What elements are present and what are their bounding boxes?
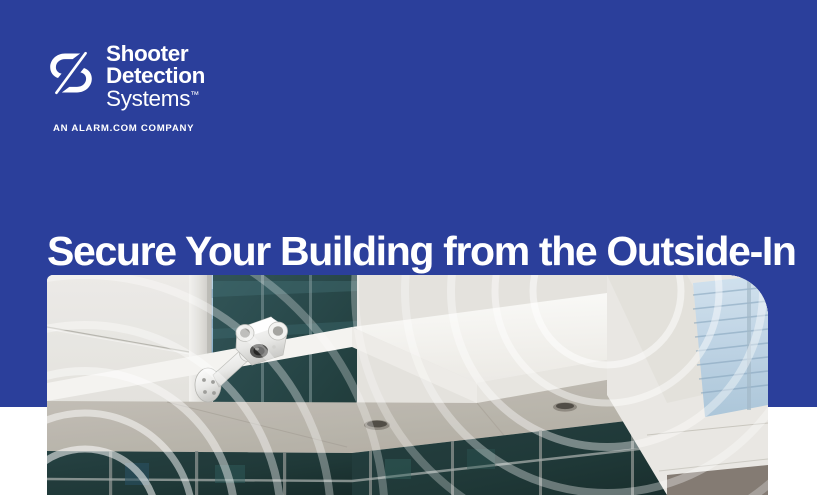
logo-row: Shooter Detection Systems™ bbox=[47, 42, 347, 110]
logo-tagline: AN ALARM.COM COMPANY bbox=[53, 123, 347, 134]
page-root: Shooter Detection Systems™ AN ALARM.COM … bbox=[0, 0, 817, 495]
shooter-detection-systems-s-mark-icon bbox=[47, 49, 95, 97]
trademark-symbol: ™ bbox=[190, 89, 199, 99]
page-title: Secure Your Building from the Outside-In bbox=[47, 230, 796, 273]
logo-systems-text: Systems bbox=[106, 86, 190, 111]
logo-line-shooter: Shooter bbox=[106, 43, 205, 65]
logo-line-systems: Systems™ bbox=[106, 88, 199, 110]
logo-wordmark: Shooter Detection Systems™ bbox=[106, 42, 205, 110]
logo-line-detection: Detection bbox=[106, 65, 205, 87]
hero-photo bbox=[47, 275, 768, 495]
brand-logo-lockup[interactable]: Shooter Detection Systems™ AN ALARM.COM … bbox=[47, 42, 347, 134]
